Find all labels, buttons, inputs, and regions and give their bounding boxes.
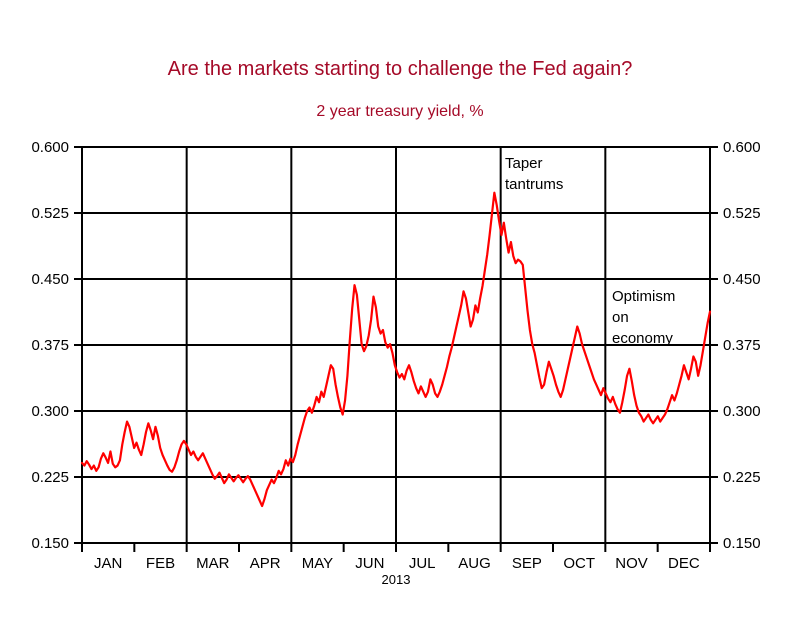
x-axis-month-label: NOV	[615, 555, 648, 572]
x-axis-month-label: SEP	[512, 555, 542, 572]
y-axis-tick-label: 0.150	[723, 535, 761, 552]
x-axis-month-label: AUG	[458, 555, 491, 572]
x-axis-month-label: MAY	[302, 555, 333, 572]
x-axis-month-label: JUN	[355, 555, 384, 572]
annotation-optimism: Optimismoneconomy	[612, 288, 675, 347]
plot-area-wrapper: 0.6000.5250.4500.3750.3000.2250.150 0.60…	[0, 0, 800, 622]
y-axis-right-labels: 0.6000.5250.4500.3750.3000.2250.150	[723, 139, 761, 552]
x-axis-title: 2013	[382, 572, 411, 587]
annotation-line: on	[612, 309, 629, 326]
y-axis-tick-label: 0.450	[31, 271, 69, 288]
chart-svg: 0.6000.5250.4500.3750.3000.2250.150 0.60…	[0, 0, 800, 622]
y-axis-tick-label: 0.525	[723, 205, 761, 222]
x-axis-ticks	[82, 543, 710, 552]
y-axis-tick-label: 0.600	[31, 139, 69, 156]
x-axis-month-label: JUL	[409, 555, 436, 572]
y-axis-left-labels: 0.6000.5250.4500.3750.3000.2250.150	[31, 139, 69, 552]
chart-annotations: TapertantrumsOptimismoneconomy	[505, 155, 675, 347]
y-axis-tick-label: 0.525	[31, 205, 69, 222]
x-axis-month-label: JAN	[94, 555, 122, 572]
y-axis-tick-label: 0.225	[723, 469, 761, 486]
chart-canvas: Are the markets starting to challenge th…	[0, 0, 800, 622]
y-axis-tick-label: 0.300	[31, 403, 69, 420]
y-axis-left-ticks	[74, 147, 82, 543]
annotation-line: tantrums	[505, 176, 563, 193]
y-axis-tick-label: 0.225	[31, 469, 69, 486]
x-axis-month-label: OCT	[563, 555, 595, 572]
y-axis-tick-label: 0.375	[31, 337, 69, 354]
y-axis-tick-label: 0.150	[31, 535, 69, 552]
annotation-line: economy	[612, 330, 673, 347]
y-axis-tick-label: 0.600	[723, 139, 761, 156]
y-axis-right-ticks	[710, 147, 718, 543]
y-axis-tick-label: 0.300	[723, 403, 761, 420]
x-axis-month-label: DEC	[668, 555, 700, 572]
y-axis-tick-label: 0.375	[723, 337, 761, 354]
annotation-line: Optimism	[612, 288, 675, 305]
annotation-line: Taper	[505, 155, 543, 172]
x-axis-month-label: FEB	[146, 555, 175, 572]
annotation-taper: Tapertantrums	[505, 155, 563, 193]
x-axis-month-label: APR	[250, 555, 281, 572]
y-axis-tick-label: 0.450	[723, 271, 761, 288]
x-axis-month-labels: JANFEBMARAPRMAYJUNJULAUGSEPOCTNOVDEC	[94, 555, 700, 572]
x-axis-month-label: MAR	[196, 555, 230, 572]
